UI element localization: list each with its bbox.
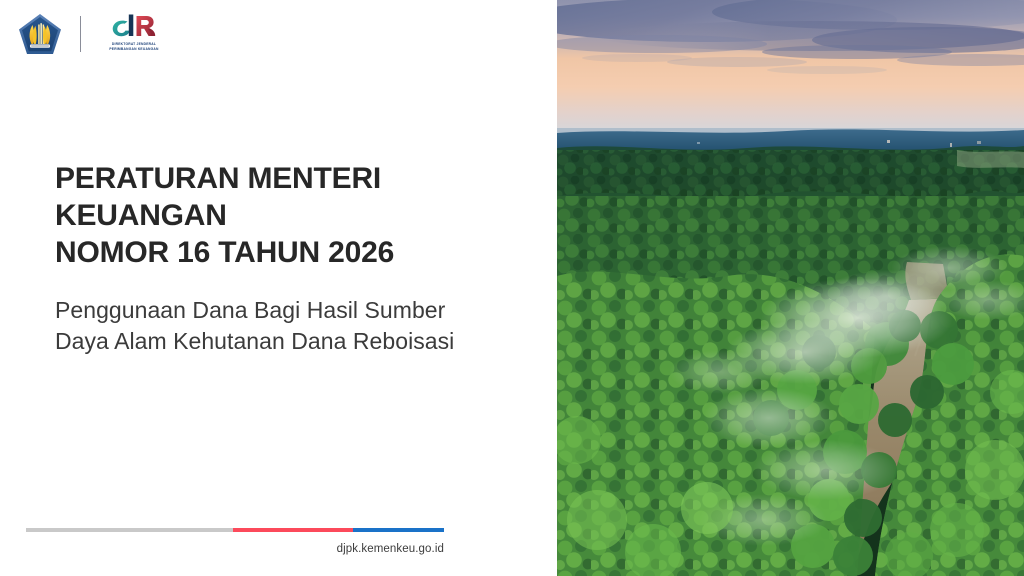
page-title-line2: NOMOR 16 TAHUN 2026 — [55, 236, 394, 269]
footer-website-url[interactable]: djpk.kemenkeu.go.id — [337, 543, 444, 555]
djpk-logo-caption: DIREKTORAT JENDERAL PERIMBANGAN KEUANGAN — [97, 42, 171, 51]
page-title-line1: PERATURAN MENTERI KEUANGAN — [55, 162, 381, 232]
footer-rule-segment-blue — [353, 528, 444, 532]
footer: djpk.kemenkeu.go.id — [26, 528, 444, 568]
hero-photo-forest-river — [557, 0, 1024, 576]
logo-divider — [80, 16, 81, 52]
left-content-panel: DIREKTORAT JENDERAL PERIMBANGAN KEUANGAN… — [0, 0, 557, 576]
page-title: PERATURAN MENTERI KEUANGAN NOMOR 16 TAHU… — [55, 160, 535, 271]
title-block: PERATURAN MENTERI KEUANGAN NOMOR 16 TAHU… — [55, 160, 535, 357]
djpk-caption-line2: PERIMBANGAN KEUANGAN — [109, 47, 158, 51]
logo-bar: DIREKTORAT JENDERAL PERIMBANGAN KEUANGAN — [18, 8, 218, 60]
footer-rule-segment-red — [233, 528, 353, 532]
djpk-logo-icon: DIREKTORAT JENDERAL PERIMBANGAN KEUANGAN — [97, 12, 171, 56]
kemenkeu-logo-icon — [18, 13, 62, 55]
title-slide: DIREKTORAT JENDERAL PERIMBANGAN KEUANGAN… — [0, 0, 1024, 576]
page-subtitle-line2: Daya Alam Kehutanan Dana Reboisasi — [55, 328, 454, 354]
page-subtitle: Penggunaan Dana Bagi Hasil Sumber Daya A… — [55, 295, 535, 357]
footer-rule-segment-gray — [26, 528, 233, 532]
djpk-caption-line1: DIREKTORAT JENDERAL — [112, 42, 156, 46]
page-subtitle-line1: Penggunaan Dana Bagi Hasil Sumber — [55, 297, 445, 323]
footer-rule — [26, 528, 444, 532]
